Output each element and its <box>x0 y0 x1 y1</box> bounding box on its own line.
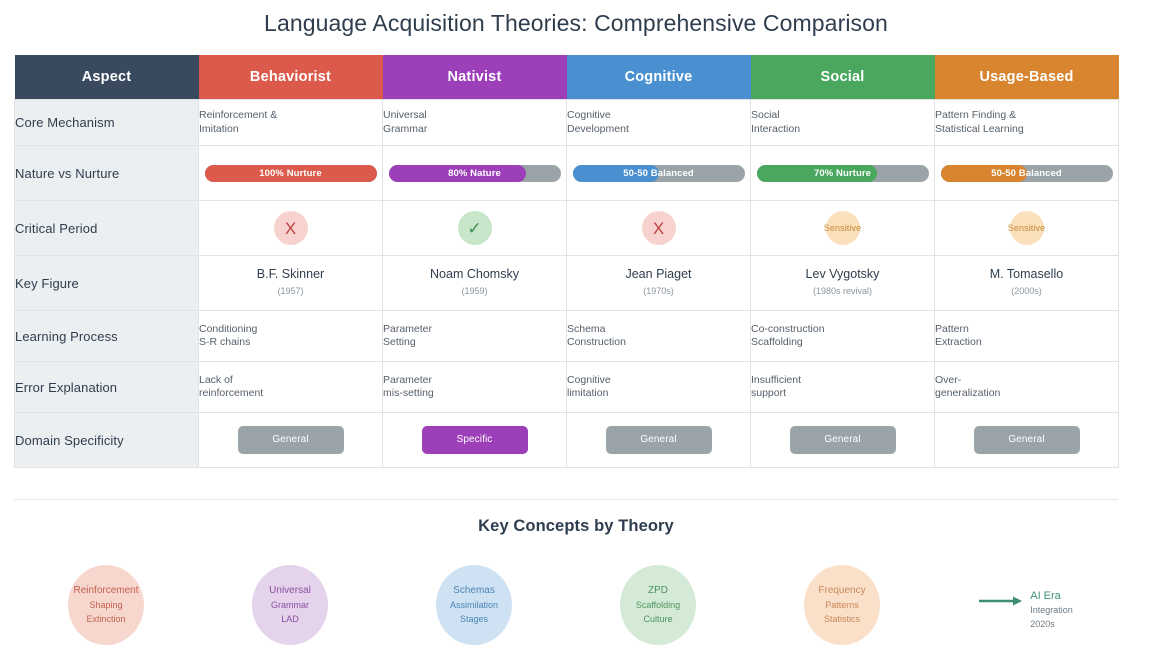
nature-nurture-bar[interactable]: 70% Nurture <box>757 165 929 182</box>
aspect-label-nature-vs-nurture: Nature vs Nurture <box>15 146 199 201</box>
cell-text2: Parametermis-setting <box>383 362 567 413</box>
concept-bubble[interactable]: ZPDScaffoldingCulture <box>620 565 696 645</box>
concept-line1: Schemas <box>453 584 495 598</box>
concept-line2: Shaping <box>89 598 122 612</box>
table-body: Core MechanismReinforcement &ImitationUn… <box>15 100 1119 468</box>
cell-badge: General <box>567 413 751 468</box>
concept-line3: LAD <box>281 612 299 626</box>
cell-text-line2: mis-setting <box>383 387 566 401</box>
ai-era-slot: AI EraIntegration2020s <box>934 565 1118 665</box>
column-header-label: Behaviorist <box>250 69 331 85</box>
table-row: Learning ProcessConditioningS-R chainsPa… <box>15 311 1119 362</box>
cell-text-line1: Parameter <box>383 323 566 337</box>
key-figure-year: (1959) <box>383 285 566 299</box>
key-figure-name: B.F. Skinner <box>199 268 382 282</box>
cell-text-line2: Imitation <box>199 123 382 137</box>
sensitive-badge-icon: Sensitive <box>1010 211 1044 245</box>
column-header-behaviorist[interactable]: Behaviorist <box>199 55 383 100</box>
cell-text2: PatternExtraction <box>935 311 1119 362</box>
aspect-label-core-mechanism: Core Mechanism <box>15 100 199 146</box>
cell-text-line1: Over- <box>935 374 1118 388</box>
cell-text2: UniversalGrammar <box>383 100 567 146</box>
cell-bar: 80% Nature <box>383 146 567 201</box>
concept-line1: Universal <box>269 584 311 598</box>
cell-text-line1: Universal <box>383 109 566 123</box>
key-figure-year: (2000s) <box>935 285 1118 299</box>
cell-figure: Noam Chomsky(1959) <box>383 256 567 311</box>
comparison-table-container: AspectBehavioristNativistCognitiveSocial… <box>14 55 1118 468</box>
concept-line2: Assimilation <box>450 598 498 612</box>
ai-era-annotation: AI EraIntegration2020s <box>979 589 1073 631</box>
column-header-social[interactable]: Social <box>751 55 935 100</box>
nature-nurture-bar[interactable]: 50-50 Balanced <box>573 165 745 182</box>
cell-text-line2: limitation <box>567 387 750 401</box>
concept-slot: ReinforcementShapingExtinction <box>14 565 198 665</box>
cell-text-line1: Insufficient <box>751 374 934 388</box>
ai-era-line1: AI Era <box>1030 589 1073 603</box>
cell-circle: Sensitive <box>935 201 1119 256</box>
cell-text-line2: support <box>751 387 934 401</box>
aspect-label-key-figure: Key Figure <box>15 256 199 311</box>
circle-label: Sensitive <box>1008 224 1045 233</box>
nature-nurture-bar[interactable]: 50-50 Balanced <box>941 165 1113 182</box>
cell-text2: Lack ofreinforcement <box>199 362 383 413</box>
column-header-aspect[interactable]: Aspect <box>15 55 199 100</box>
cell-text2: Co-constructionScaffolding <box>751 311 935 362</box>
cell-text-line1: Pattern <box>935 323 1118 337</box>
cell-figure: Lev Vygotsky(1980s revival) <box>751 256 935 311</box>
column-header-label: Social <box>821 69 865 85</box>
bar-label: 50-50 Balanced <box>941 165 1113 182</box>
concept-bubble[interactable]: UniversalGrammarLAD <box>252 565 328 645</box>
concept-slot: ZPDScaffoldingCulture <box>566 565 750 665</box>
concept-bubble[interactable]: FrequencyPatternsStatistics <box>804 565 880 645</box>
cell-text2: CognitiveDevelopment <box>567 100 751 146</box>
cell-text-line1: Schema <box>567 323 750 337</box>
bar-label: 50-50 Balanced <box>573 165 745 182</box>
concept-line1: Reinforcement <box>73 584 138 598</box>
column-header-label: Nativist <box>448 69 502 85</box>
table-row: Critical PeriodX✓XSensitiveSensitive <box>15 201 1119 256</box>
column-header-label: Usage-Based <box>979 69 1073 85</box>
concept-line3: Statistics <box>824 612 860 626</box>
table-header-row: AspectBehavioristNativistCognitiveSocial… <box>15 55 1119 100</box>
circle-glyph: ✓ <box>467 220 481 237</box>
domain-specificity-badge[interactable]: General <box>790 426 896 454</box>
cell-text-line2: Scaffolding <box>751 336 934 350</box>
cross-icon: X <box>642 211 676 245</box>
domain-specificity-badge[interactable]: General <box>606 426 712 454</box>
cell-text2: ConditioningS-R chains <box>199 311 383 362</box>
concept-line2: Patterns <box>825 598 859 612</box>
cell-text2: ParameterSetting <box>383 311 567 362</box>
cell-text-line2: Grammar <box>383 123 566 137</box>
cell-text-line2: Setting <box>383 336 566 350</box>
bar-label: 80% Nature <box>389 165 561 182</box>
cell-bar: 100% Nurture <box>199 146 383 201</box>
bar-label: 100% Nurture <box>205 165 377 182</box>
cell-figure: B.F. Skinner(1957) <box>199 256 383 311</box>
nature-nurture-bar[interactable]: 80% Nature <box>389 165 561 182</box>
key-figure-year: (1980s revival) <box>751 285 934 299</box>
cell-bar: 50-50 Balanced <box>567 146 751 201</box>
cell-text2: SocialInteraction <box>751 100 935 146</box>
bar-label: 70% Nurture <box>757 165 929 182</box>
concept-line3: Stages <box>460 612 488 626</box>
key-figure-name: Lev Vygotsky <box>751 268 934 282</box>
concept-line3: Culture <box>643 612 672 626</box>
key-figure-year: (1970s) <box>567 285 750 299</box>
concept-line2: Scaffolding <box>636 598 680 612</box>
concept-slot: FrequencyPatternsStatistics <box>750 565 934 665</box>
cell-text-line2: Extraction <box>935 336 1118 350</box>
cell-text-line1: Co-construction <box>751 323 934 337</box>
domain-specificity-badge[interactable]: General <box>974 426 1080 454</box>
cell-circle: X <box>567 201 751 256</box>
aspect-label-learning-process: Learning Process <box>15 311 199 362</box>
cell-text-line2: reinforcement <box>199 387 382 401</box>
cell-text2: Reinforcement &Imitation <box>199 100 383 146</box>
comparison-table: AspectBehavioristNativistCognitiveSocial… <box>14 55 1119 468</box>
arrow-right-icon <box>979 594 1023 606</box>
domain-specificity-badge[interactable]: Specific <box>422 426 528 454</box>
concept-bubble[interactable]: ReinforcementShapingExtinction <box>68 565 144 645</box>
cell-circle: X <box>199 201 383 256</box>
circle-glyph: X <box>285 220 296 237</box>
table-row: Domain SpecificityGeneralSpecificGeneral… <box>15 413 1119 468</box>
cell-bar: 70% Nurture <box>751 146 935 201</box>
key-figure-name: Noam Chomsky <box>383 268 566 282</box>
concept-line1: ZPD <box>648 584 668 598</box>
column-header-label: Cognitive <box>625 69 693 85</box>
cell-text-line2: Statistical Learning <box>935 123 1118 137</box>
cell-badge: Specific <box>383 413 567 468</box>
table-row: Core MechanismReinforcement &ImitationUn… <box>15 100 1119 146</box>
cell-text-line1: Social <box>751 109 934 123</box>
key-figure-name: M. Tomasello <box>935 268 1118 282</box>
aspect-label-domain-specificity: Domain Specificity <box>15 413 199 468</box>
cell-text2: Over-generalization <box>935 362 1119 413</box>
cell-text-line2: Interaction <box>751 123 934 137</box>
cell-text-line1: Pattern Finding & <box>935 109 1118 123</box>
section-divider <box>14 499 1118 500</box>
concept-line1: Frequency <box>818 584 865 598</box>
concepts-row: ReinforcementShapingExtinctionUniversalG… <box>14 565 1118 665</box>
cell-text-line2: S-R chains <box>199 336 382 350</box>
check-icon: ✓ <box>458 211 492 245</box>
ai-era-text: AI EraIntegration2020s <box>1030 589 1073 631</box>
cell-text-line1: Reinforcement & <box>199 109 382 123</box>
column-header-nativist[interactable]: Nativist <box>383 55 567 100</box>
table-row: Key FigureB.F. Skinner(1957)Noam Chomsky… <box>15 256 1119 311</box>
column-header-cognitive[interactable]: Cognitive <box>567 55 751 100</box>
cell-text2: Insufficientsupport <box>751 362 935 413</box>
circle-label: Sensitive <box>824 224 861 233</box>
cell-text-line2: Development <box>567 123 750 137</box>
ai-era-line3: 2020s <box>1030 617 1073 631</box>
table-row: Error ExplanationLack ofreinforcementPar… <box>15 362 1119 413</box>
cell-text-line1: Cognitive <box>567 109 750 123</box>
sensitive-badge-icon: Sensitive <box>826 211 860 245</box>
cell-circle: Sensitive <box>751 201 935 256</box>
cell-badge: General <box>935 413 1119 468</box>
page-title: Language Acquisition Theories: Comprehen… <box>0 0 1152 38</box>
cell-text2: Cognitivelimitation <box>567 362 751 413</box>
aspect-label-error-explanation: Error Explanation <box>15 362 199 413</box>
cell-figure: M. Tomasello(2000s) <box>935 256 1119 311</box>
column-header-label: Aspect <box>82 69 132 85</box>
cell-figure: Jean Piaget(1970s) <box>567 256 751 311</box>
domain-specificity-badge[interactable]: General <box>238 426 344 454</box>
nature-nurture-bar[interactable]: 100% Nurture <box>205 165 377 182</box>
column-header-usage-based[interactable]: Usage-Based <box>935 55 1119 100</box>
concept-slot: SchemasAssimilationStages <box>382 565 566 665</box>
cell-text2: SchemaConstruction <box>567 311 751 362</box>
cell-bar: 50-50 Balanced <box>935 146 1119 201</box>
concept-line2: Grammar <box>271 598 309 612</box>
cell-text-line2: generalization <box>935 387 1118 401</box>
cross-icon: X <box>274 211 308 245</box>
concept-bubble[interactable]: SchemasAssimilationStages <box>436 565 512 645</box>
table-row: Nature vs Nurture100% Nurture80% Nature5… <box>15 146 1119 201</box>
cell-text-line1: Cognitive <box>567 374 750 388</box>
ai-era-line2: Integration <box>1030 603 1073 617</box>
concept-line3: Extinction <box>86 612 125 626</box>
key-figure-name: Jean Piaget <box>567 268 750 282</box>
cell-text-line1: Conditioning <box>199 323 382 337</box>
cell-text-line1: Parameter <box>383 374 566 388</box>
aspect-label-critical-period: Critical Period <box>15 201 199 256</box>
cell-badge: General <box>199 413 383 468</box>
circle-glyph: X <box>653 220 664 237</box>
key-figure-year: (1957) <box>199 285 382 299</box>
concepts-section-title: Key Concepts by Theory <box>0 517 1152 536</box>
cell-text2: Pattern Finding &Statistical Learning <box>935 100 1119 146</box>
concept-slot: UniversalGrammarLAD <box>198 565 382 665</box>
cell-badge: General <box>751 413 935 468</box>
cell-text-line2: Construction <box>567 336 750 350</box>
cell-circle: ✓ <box>383 201 567 256</box>
cell-text-line1: Lack of <box>199 374 382 388</box>
